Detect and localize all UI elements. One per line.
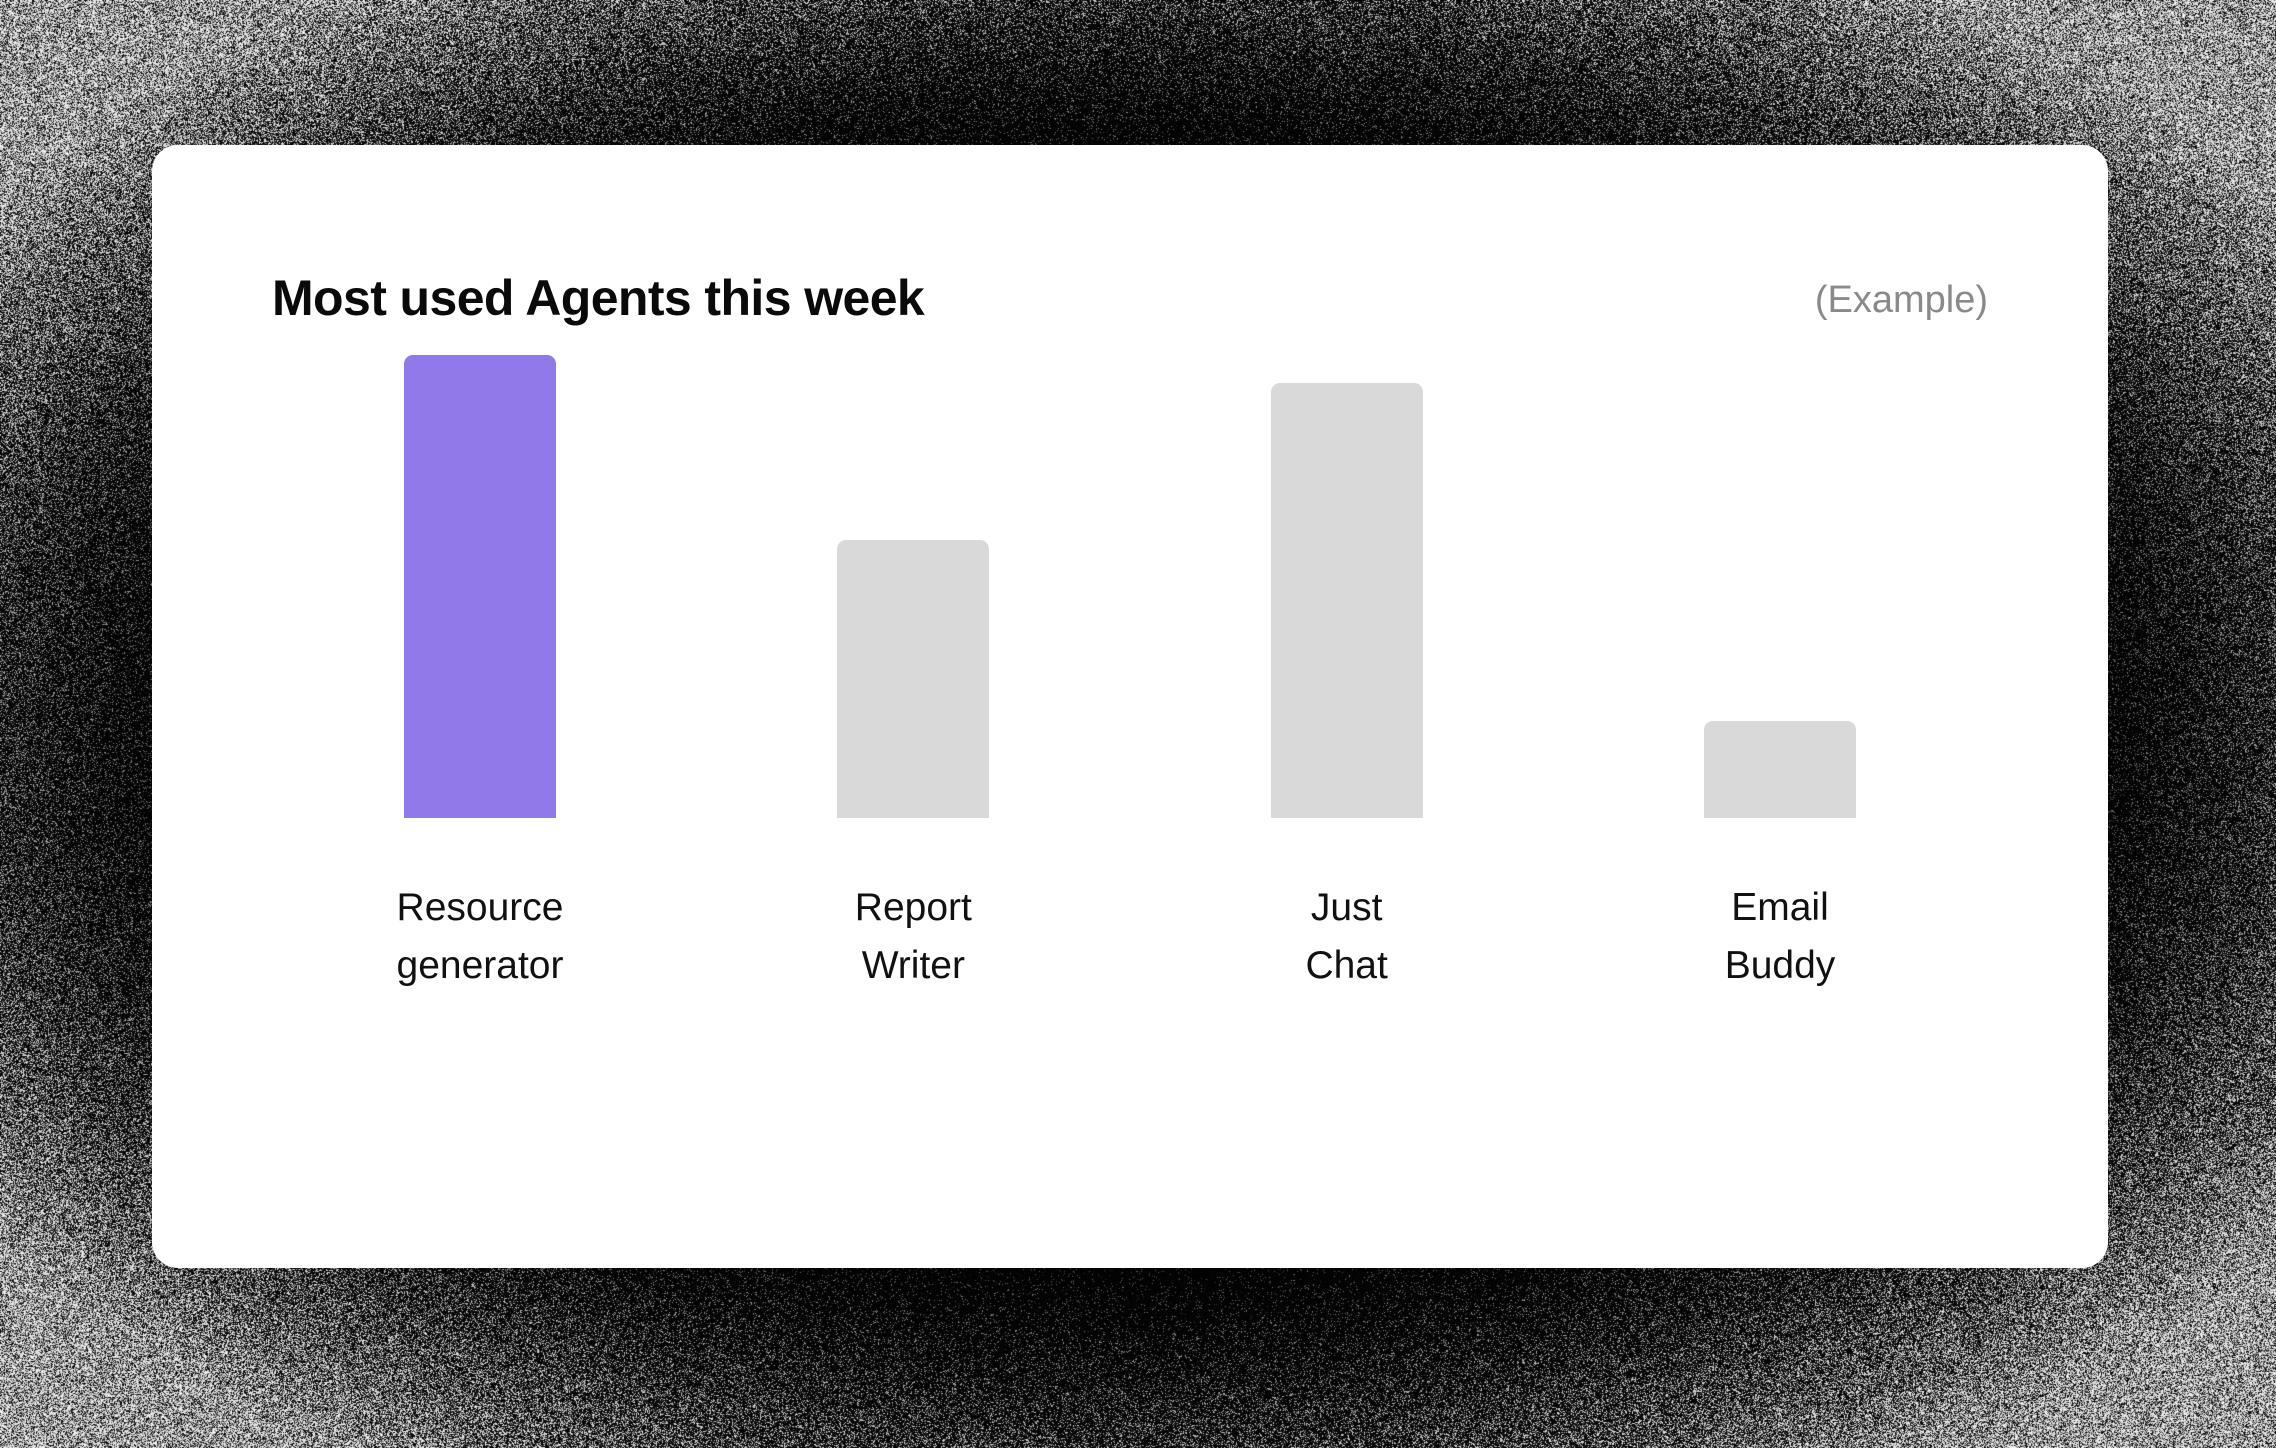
bar-column[interactable]: Resourcegenerator <box>272 355 688 1015</box>
example-badge: (Example) <box>1815 275 1988 325</box>
bar[interactable] <box>1271 383 1423 818</box>
bar-track <box>272 355 688 818</box>
bar-label-line-1: Resource <box>272 879 688 937</box>
bar-track <box>1572 355 1988 818</box>
bar-label-line-2: generator <box>272 937 688 995</box>
bar[interactable] <box>1704 721 1856 818</box>
bar-label-line-1: Just <box>1139 879 1555 937</box>
bar-label-line-2: Writer <box>705 937 1121 995</box>
bar-label-line-1: Email <box>1572 879 1988 937</box>
bar[interactable] <box>837 540 989 818</box>
bar-label: ReportWriter <box>705 879 1121 995</box>
bar-track <box>705 355 1121 818</box>
most-used-agents-card: Most used Agents this week (Example) Res… <box>152 145 2108 1268</box>
bar-track <box>1139 355 1555 818</box>
card-header: Most used Agents this week (Example) <box>272 267 1988 339</box>
bar-label: Resourcegenerator <box>272 879 688 995</box>
bar-label-line-1: Report <box>705 879 1121 937</box>
bar-column[interactable]: ReportWriter <box>705 355 1121 1015</box>
bar-column[interactable]: JustChat <box>1139 355 1555 1015</box>
bar[interactable] <box>404 355 556 818</box>
bar-label-line-2: Chat <box>1139 937 1555 995</box>
page-title: Most used Agents this week <box>272 267 924 329</box>
bar-label: EmailBuddy <box>1572 879 1988 995</box>
bar-column[interactable]: EmailBuddy <box>1572 355 1988 1015</box>
bar-label: JustChat <box>1139 879 1555 995</box>
bar-label-line-2: Buddy <box>1572 937 1988 995</box>
bar-chart: ResourcegeneratorReportWriterJustChatEma… <box>272 355 1988 1015</box>
